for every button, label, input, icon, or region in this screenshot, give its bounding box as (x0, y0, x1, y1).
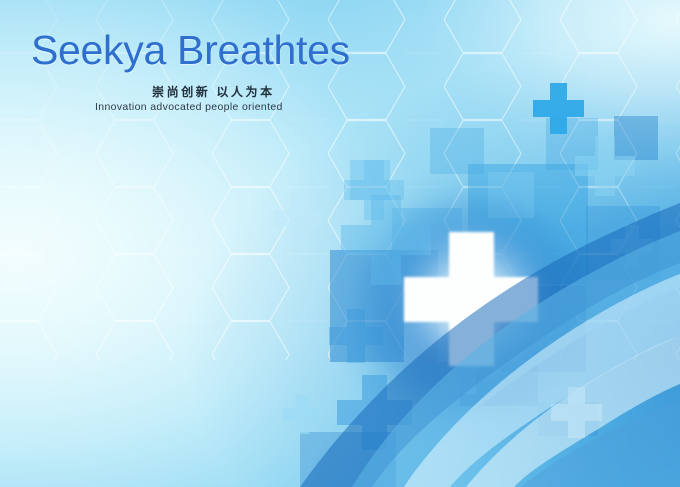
subtitle-chinese: 崇尚创新 以人为本 (152, 83, 275, 100)
poster-canvas: Seekya Breathtes 崇尚创新 以人为本 Innovation ad… (0, 0, 680, 487)
subtitle-english: Innovation advocated people oriented (95, 101, 283, 113)
page-title: Seekya Breathtes (31, 27, 350, 74)
